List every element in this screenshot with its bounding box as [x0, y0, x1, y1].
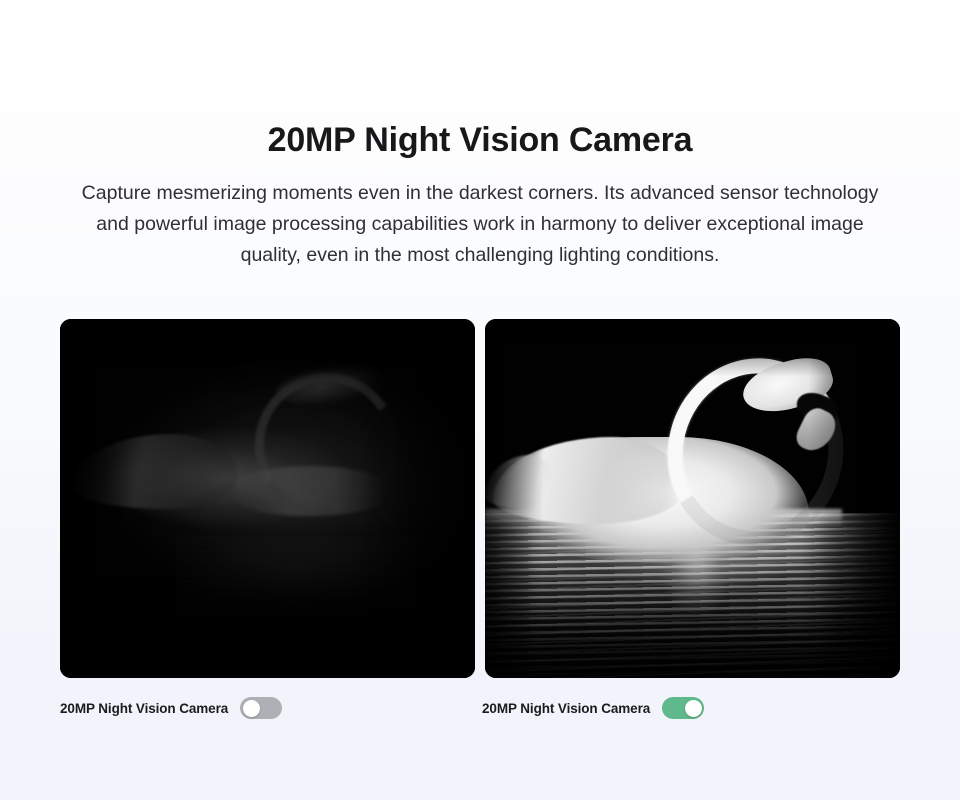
comparison-image-left-nightvision-off[interactable]	[60, 319, 475, 678]
comparison-image-right-nightvision-on[interactable]	[485, 319, 900, 678]
caption-toggle-row: 20MP Night Vision Camera 20MP Night Visi…	[60, 695, 900, 721]
feature-description: Capture mesmerizing moments even in the …	[80, 178, 880, 271]
night-vision-toggle-left[interactable]	[240, 697, 282, 719]
dark-swan-photo	[60, 319, 475, 678]
night-vision-toggle-right[interactable]	[662, 697, 704, 719]
toggle-knob-right	[685, 700, 702, 717]
dark-scene-vignette	[60, 319, 475, 678]
caption-label-left: 20MP Night Vision Camera	[60, 701, 228, 716]
caption-group-right: 20MP Night Vision Camera	[482, 695, 704, 721]
image-comparison-row	[60, 319, 900, 678]
swan-wing-tip	[485, 455, 551, 509]
night-vision-camera-feature-section: 20MP Night Vision Camera Capture mesmeri…	[0, 0, 960, 800]
caption-label-right: 20MP Night Vision Camera	[482, 701, 650, 716]
page-title: 20MP Night Vision Camera	[0, 119, 960, 161]
lit-swan-photo	[485, 319, 900, 678]
caption-group-left: 20MP Night Vision Camera	[60, 695, 282, 721]
toggle-knob-left	[243, 700, 260, 717]
